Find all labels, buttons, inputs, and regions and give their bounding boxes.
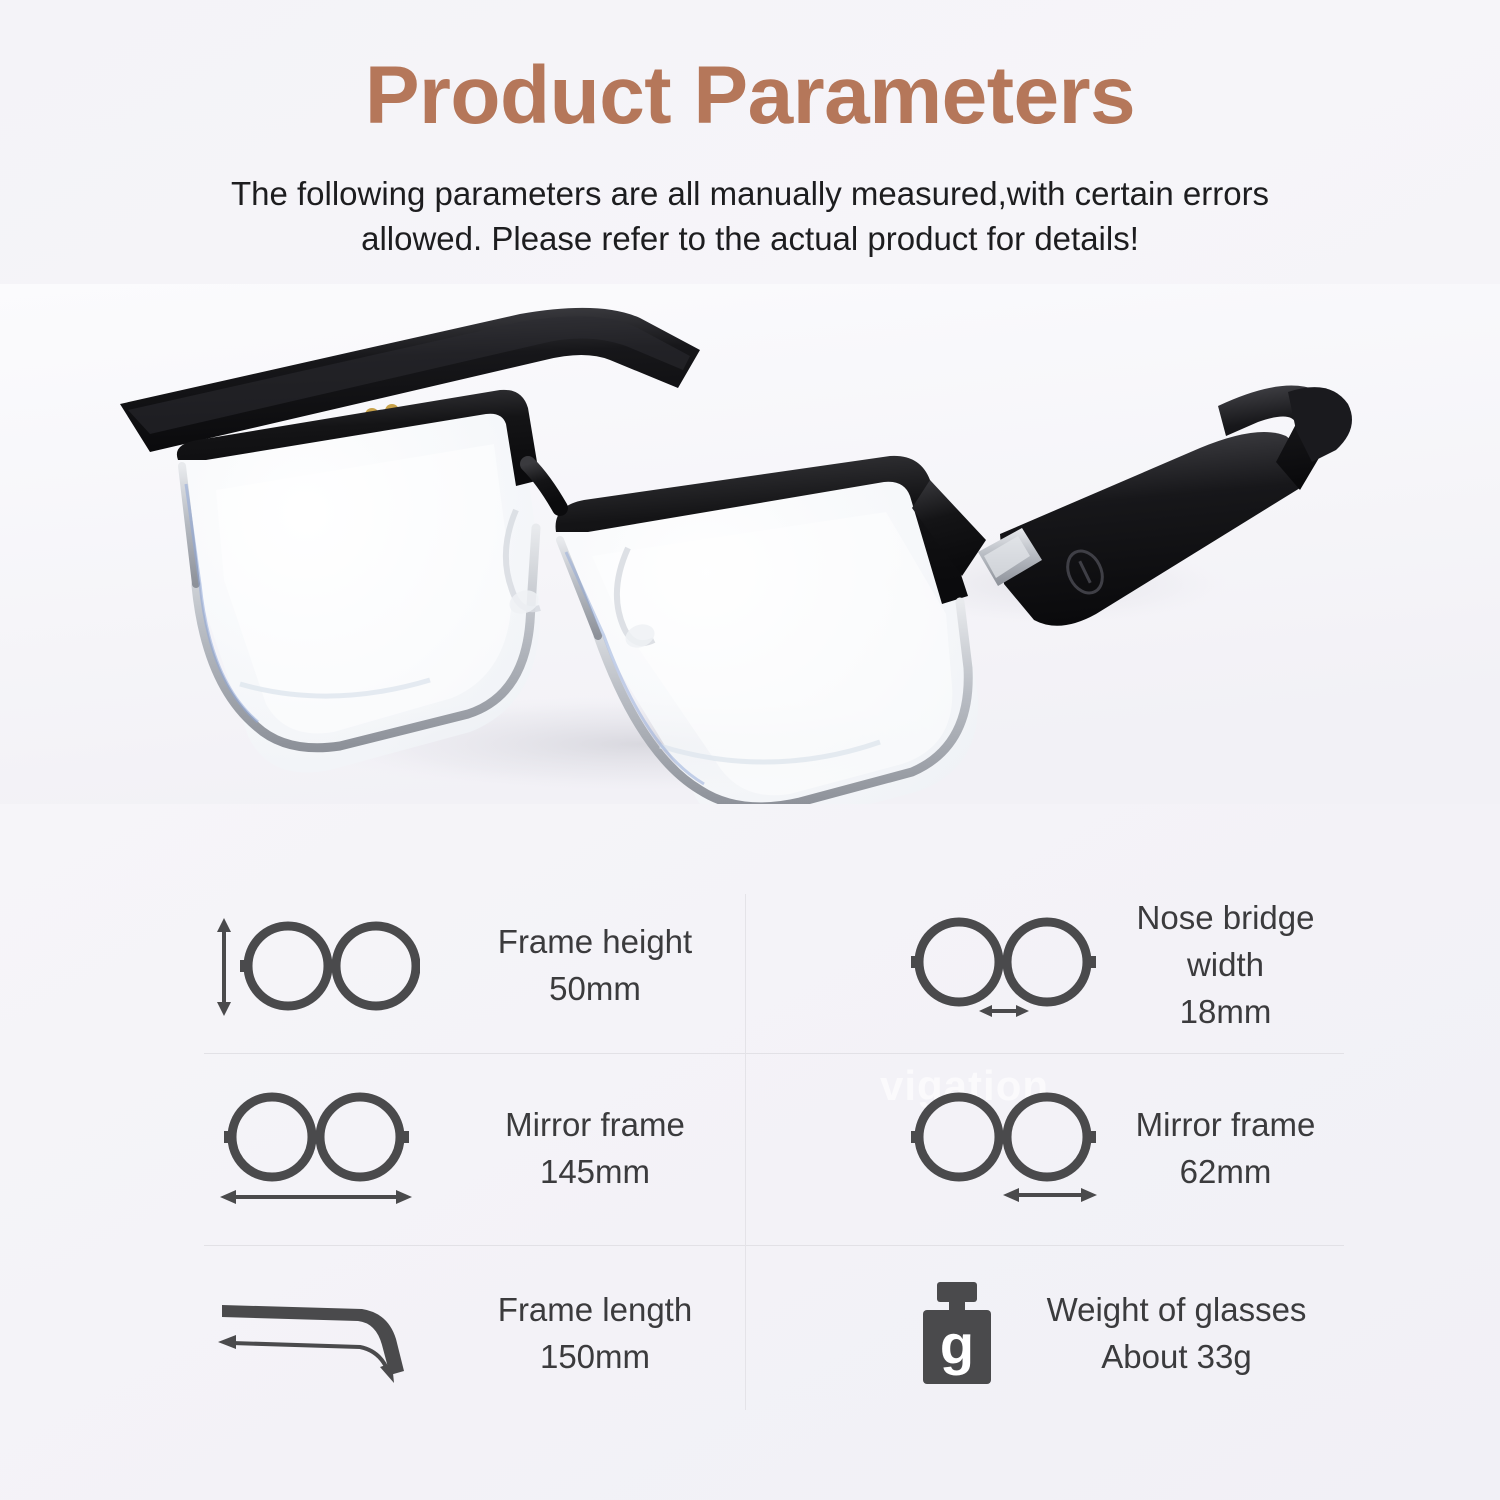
spec-text: Mirror frame 62mm: [1115, 1102, 1346, 1196]
spec-text: Frame height 50mm: [428, 919, 772, 1013]
spec-label: Weight of glasses: [1017, 1287, 1336, 1334]
subtitle-line-1: The following parameters are all manuall…: [231, 175, 1269, 212]
spec-text: Frame length 150mm: [428, 1287, 772, 1381]
frame-height-icon: [210, 912, 428, 1020]
spec-label: Mirror frame: [428, 1102, 762, 1149]
specifications-grid: Frame height 50mm: [198, 878, 1346, 1423]
spec-label: Frame height: [428, 919, 762, 966]
spec-value: About 33g: [1017, 1334, 1336, 1381]
spec-text: Nose bridge width 18mm: [1115, 895, 1346, 1036]
nose-bridge-width-icon: [897, 912, 1115, 1020]
spec-label: Frame length: [428, 1287, 762, 1334]
spec-cell-frame-height: Frame height 50mm: [198, 878, 772, 1053]
spec-cell-frame-length: Frame length 150mm: [198, 1245, 772, 1423]
page-title: Product Parameters: [0, 52, 1500, 141]
svg-text:g: g: [940, 1313, 974, 1376]
subtitle-line-2: allowed. Please refer to the actual prod…: [361, 220, 1139, 257]
spec-label: Nose bridge width: [1115, 895, 1336, 989]
product-photo: [0, 284, 1500, 804]
spec-label: Mirror frame: [1115, 1102, 1336, 1149]
spec-cell-weight: g Weight of glasses About 33g: [772, 1245, 1346, 1423]
spec-value: 18mm: [1115, 989, 1336, 1036]
mirror-frame-lens-width-icon: [897, 1087, 1115, 1211]
spec-value: 150mm: [428, 1334, 762, 1381]
page-subtitle: The following parameters are all manuall…: [160, 171, 1340, 262]
page-header: Product Parameters The following paramet…: [0, 0, 1500, 262]
glasses-illustration: [0, 284, 1500, 804]
spec-value: 145mm: [428, 1149, 762, 1196]
spec-cell-mirror-frame-width: Mirror frame 145mm: [198, 1053, 772, 1245]
spec-cell-lens-width: Mirror frame 62mm: [772, 1053, 1346, 1245]
mirror-frame-total-width-icon: [210, 1087, 428, 1211]
frame-length-icon: [210, 1279, 428, 1389]
weight-icon: g: [897, 1278, 1017, 1390]
spec-text: Mirror frame 145mm: [428, 1102, 772, 1196]
spec-text: Weight of glasses About 33g: [1017, 1287, 1346, 1381]
spec-value: 50mm: [428, 966, 762, 1013]
spec-value: 62mm: [1115, 1149, 1336, 1196]
spec-cell-nose-bridge-width: Nose bridge width 18mm: [772, 878, 1346, 1053]
